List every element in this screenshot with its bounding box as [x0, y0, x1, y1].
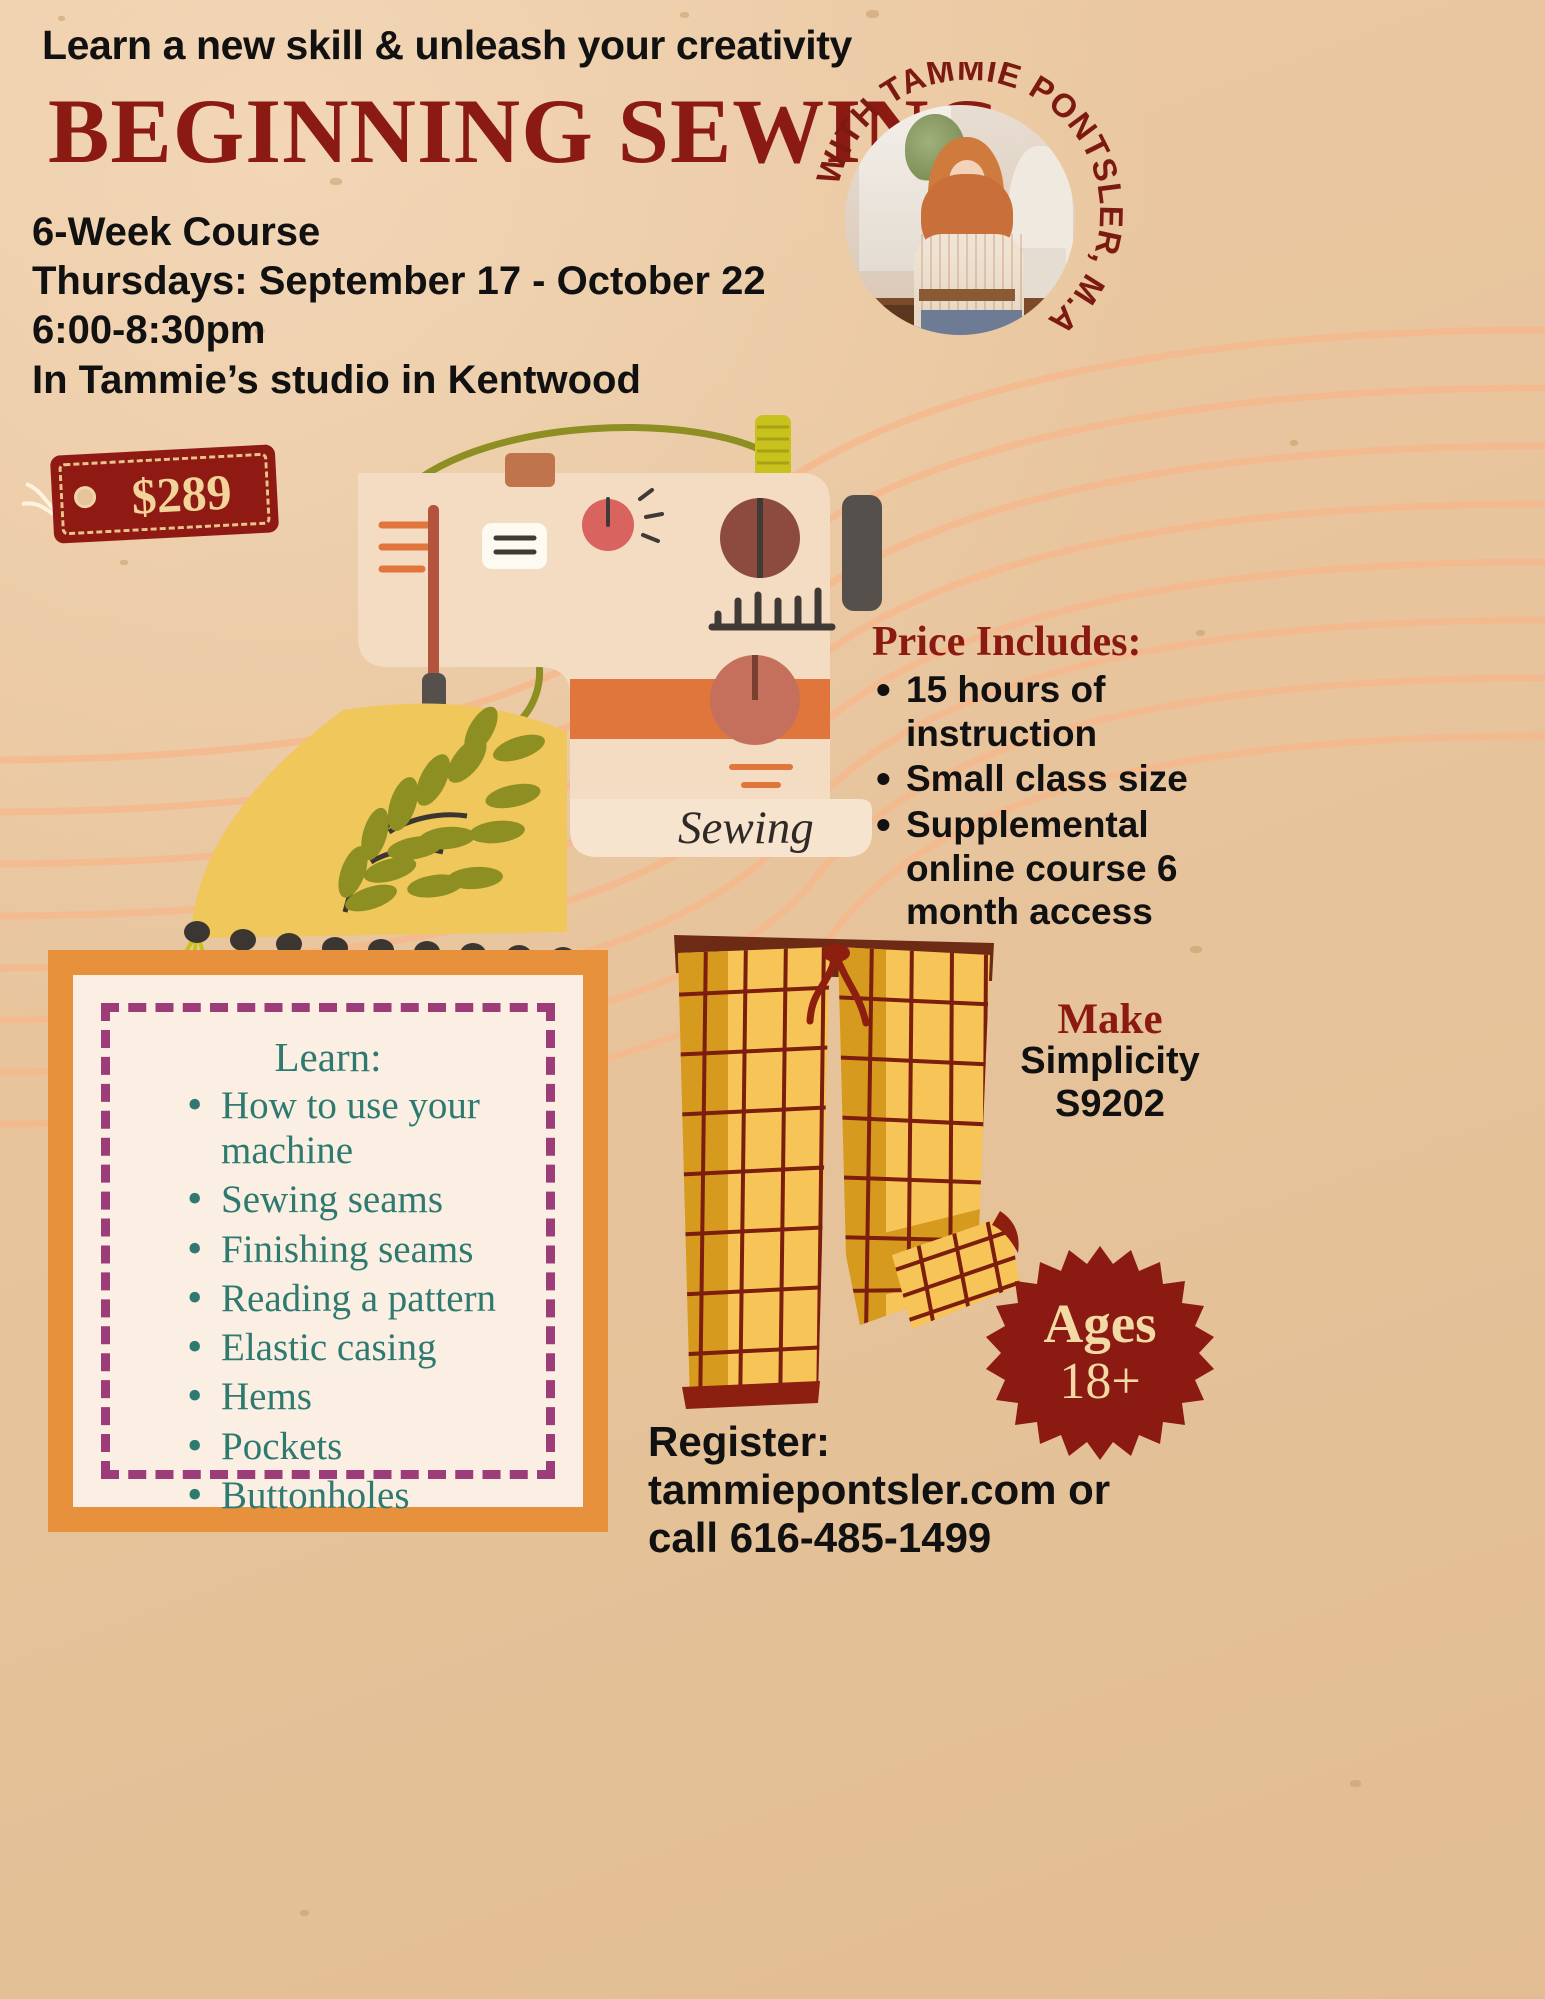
- photo-jeans: [921, 310, 1022, 335]
- speckle: [680, 12, 689, 18]
- price-includes-item: Supplemental online course 6 month acces…: [870, 803, 1200, 934]
- register-block: Register: tammiepontsler.com or call 616…: [648, 1418, 1110, 1562]
- price-includes-heading: Price Includes:: [872, 618, 1141, 666]
- photo-belt: [919, 289, 1016, 301]
- speckle: [58, 16, 65, 21]
- speckle: [120, 560, 128, 565]
- ages-label: Ages: [985, 1292, 1215, 1355]
- fabric-leaf-icon: [175, 700, 575, 990]
- detail-dates: Thursdays: September 17 - October 22: [32, 257, 766, 306]
- price-includes-item: 15 hours of instruction: [870, 668, 1200, 755]
- learn-item: Finishing seams: [183, 1227, 543, 1272]
- learn-item: Pockets: [183, 1424, 543, 1469]
- course-details: 6-Week Course Thursdays: September 17 - …: [32, 208, 766, 405]
- speckle: [1290, 440, 1298, 446]
- speckle: [1196, 630, 1205, 636]
- register-website[interactable]: tammiepontsler.com or: [648, 1466, 1110, 1514]
- make-pattern-number: S9202: [985, 1083, 1235, 1126]
- plaid-pants-icon: [660, 925, 1020, 1445]
- flyer-page: Learn a new skill & unleash your creativ…: [0, 0, 1545, 1999]
- learn-box: Learn: How to use your machine Sewing se…: [48, 950, 608, 1532]
- speckle: [1190, 946, 1202, 953]
- price-tag: $289: [50, 444, 279, 544]
- speckle: [300, 1910, 309, 1916]
- learn-item: Buttonholes: [183, 1473, 543, 1518]
- learn-item: Sewing seams: [183, 1177, 543, 1222]
- instructor-photo: [845, 105, 1075, 335]
- learn-list: How to use your machine Sewing seams Fin…: [183, 1083, 543, 1522]
- avatar: [845, 105, 1075, 335]
- learn-item: Reading a pattern: [183, 1276, 543, 1321]
- speckle: [1350, 1780, 1361, 1787]
- register-heading: Register:: [648, 1418, 1110, 1466]
- machine-word: Sewing: [678, 802, 814, 854]
- speckle: [866, 10, 879, 18]
- learn-item: Hems: [183, 1374, 543, 1419]
- price-amount: $289: [51, 460, 279, 530]
- make-pattern: Simplicity S9202: [985, 1040, 1235, 1125]
- learn-box-inner: Learn: How to use your machine Sewing se…: [73, 975, 583, 1507]
- tagline: Learn a new skill & unleash your creativ…: [42, 22, 852, 69]
- learn-heading: Learn:: [73, 1033, 583, 1081]
- register-phone[interactable]: call 616-485-1499: [648, 1514, 1110, 1562]
- detail-duration: 6-Week Course: [32, 208, 766, 257]
- make-heading: Make: [995, 995, 1225, 1044]
- make-pattern-brand: Simplicity: [985, 1040, 1235, 1083]
- price-includes-list: 15 hours of instruction Small class size…: [870, 668, 1200, 936]
- price-includes-item: Small class size: [870, 757, 1200, 801]
- learn-item: Elastic casing: [183, 1325, 543, 1370]
- ages-value: 18+: [985, 1352, 1215, 1411]
- learn-item: How to use your machine: [183, 1083, 543, 1173]
- detail-time: 6:00-8:30pm: [32, 306, 766, 355]
